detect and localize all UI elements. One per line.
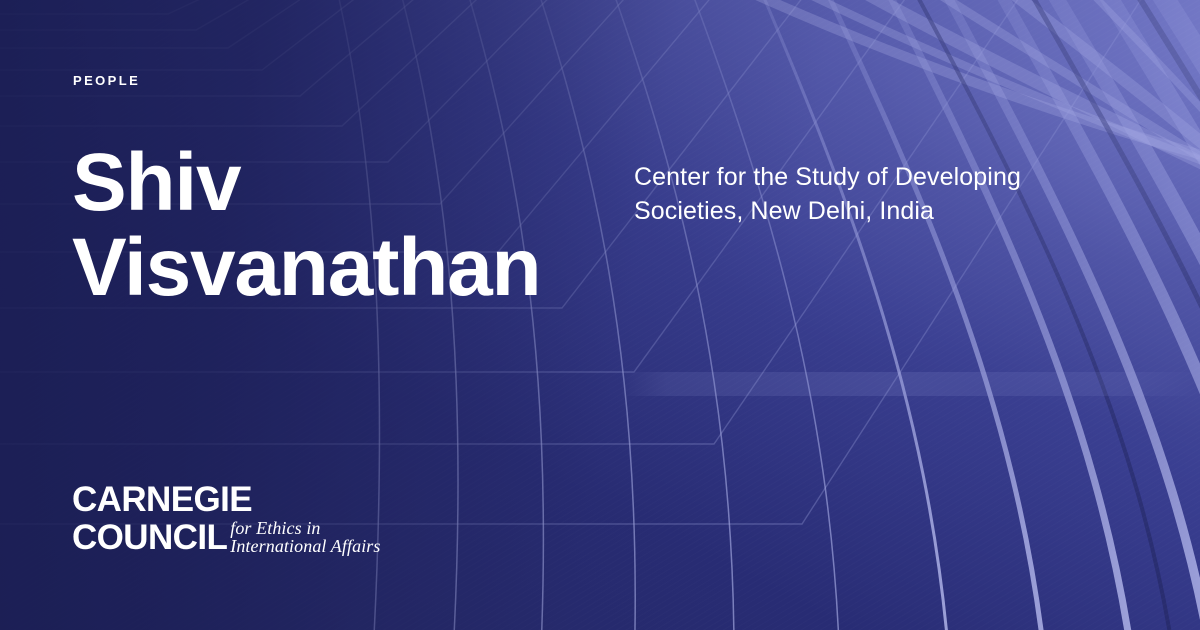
affiliation-text: Center for the Study of Developing Socie… bbox=[634, 160, 1084, 228]
logo-tagline-line2: International Affairs bbox=[230, 537, 380, 555]
logo-tagline-line1: for Ethics in bbox=[230, 519, 380, 537]
logo-line-council: COUNCIL bbox=[72, 520, 227, 555]
logo-tagline: for Ethics in International Affairs bbox=[230, 519, 380, 556]
people-share-card: PEOPLE Shiv Visvanathan Center for the S… bbox=[0, 0, 1200, 630]
category-eyebrow: PEOPLE bbox=[73, 74, 140, 87]
logo-line-carnegie: CARNEGIE bbox=[72, 482, 381, 517]
page-title: Shiv Visvanathan bbox=[72, 140, 632, 311]
carnegie-council-logo[interactable]: CARNEGIE COUNCIL for Ethics in Internati… bbox=[72, 482, 381, 555]
card-content: PEOPLE Shiv Visvanathan Center for the S… bbox=[0, 0, 1200, 630]
logo-second-row: COUNCIL for Ethics in International Affa… bbox=[72, 519, 381, 555]
logo-wordmark: CARNEGIE COUNCIL for Ethics in Internati… bbox=[72, 482, 381, 555]
